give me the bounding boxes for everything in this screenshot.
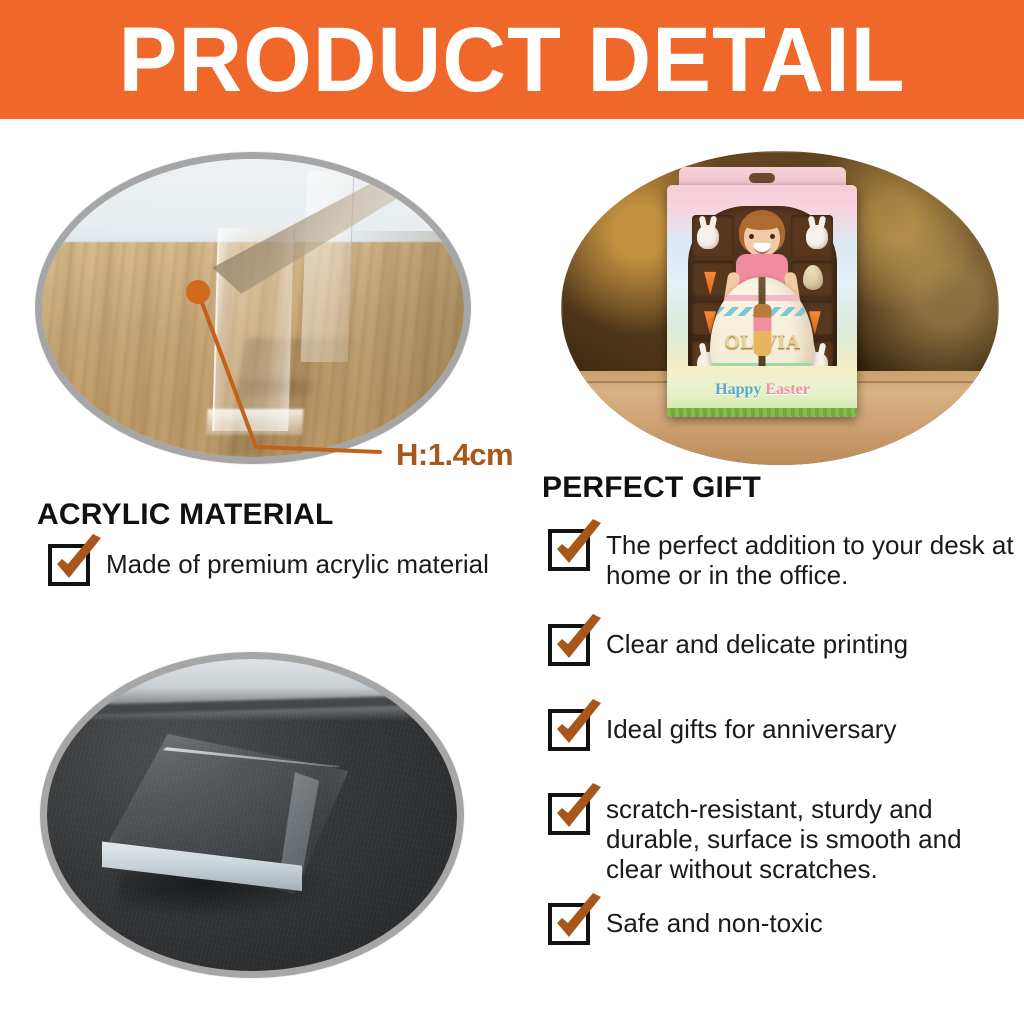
retail-package: OLIVIA Happy Easter	[667, 167, 857, 417]
greeting-word-happy: Happy	[715, 381, 761, 398]
bunny-figure-icon	[697, 225, 719, 249]
dimension-label: H:1.4cm	[396, 437, 513, 473]
feature-text: Clear and delicate printing	[606, 624, 908, 659]
photo-acrylic-edge	[35, 152, 471, 464]
checkbox-checked[interactable]	[48, 544, 90, 586]
package-bottom-banner: Happy Easter	[667, 366, 857, 417]
package-grass-strip	[667, 408, 857, 417]
checkmark-icon	[549, 614, 607, 670]
bunny-figure-icon	[806, 225, 828, 249]
checkbox-checked[interactable]	[548, 529, 590, 571]
checkbox-checked[interactable]	[548, 624, 590, 666]
checkbox-checked[interactable]	[548, 903, 590, 945]
section-heading-perfect-gift: PERFECT GIFT	[542, 471, 761, 505]
greeting-word-easter: Easter	[765, 381, 809, 398]
acrylic-slab	[104, 734, 348, 920]
feature-item: Clear and delicate printing	[548, 624, 908, 666]
checkmark-icon	[549, 893, 607, 949]
header-banner: PRODUCT DETAIL	[0, 0, 1024, 119]
feature-text: scratch-resistant, sturdy and durable, s…	[606, 793, 1018, 884]
feature-text: The perfect addition to your desk at hom…	[606, 529, 1018, 590]
egg-inner-figure	[753, 304, 771, 356]
checkmark-icon	[549, 783, 607, 839]
figure-eye-left	[749, 234, 754, 239]
mini-egg-icon	[803, 265, 823, 290]
carrot-icon	[704, 269, 716, 295]
feature-text: Made of premium acrylic material	[106, 544, 489, 579]
feature-text: Ideal gifts for anniversary	[606, 709, 896, 744]
checkmark-icon	[549, 519, 607, 575]
figure-bangs	[742, 216, 782, 230]
page-title: PRODUCT DETAIL	[20, 0, 1003, 119]
feature-text: Safe and non-toxic	[606, 903, 823, 938]
package-hang-hole	[749, 173, 775, 183]
checkbox-checked[interactable]	[548, 793, 590, 835]
section-heading-acrylic-material: ACRYLIC MATERIAL	[37, 498, 334, 532]
package-body: OLIVIA Happy Easter	[667, 185, 857, 417]
checkbox-checked[interactable]	[548, 709, 590, 751]
figure-eye-right	[770, 234, 775, 239]
package-greeting-text: Happy Easter	[715, 381, 810, 399]
photo-acrylic-block	[40, 652, 464, 978]
feature-item: Safe and non-toxic	[548, 903, 823, 945]
checkmark-icon	[49, 534, 107, 590]
feature-item: scratch-resistant, sturdy and durable, s…	[548, 793, 1018, 884]
feature-item: Made of premium acrylic material	[48, 544, 489, 586]
photo-product-package: OLIVIA Happy Easter	[561, 151, 999, 465]
checkmark-icon	[549, 699, 607, 755]
feature-item: The perfect addition to your desk at hom…	[548, 529, 1018, 590]
feature-item: Ideal gifts for anniversary	[548, 709, 896, 751]
acrylic-base-highlight	[206, 409, 303, 435]
